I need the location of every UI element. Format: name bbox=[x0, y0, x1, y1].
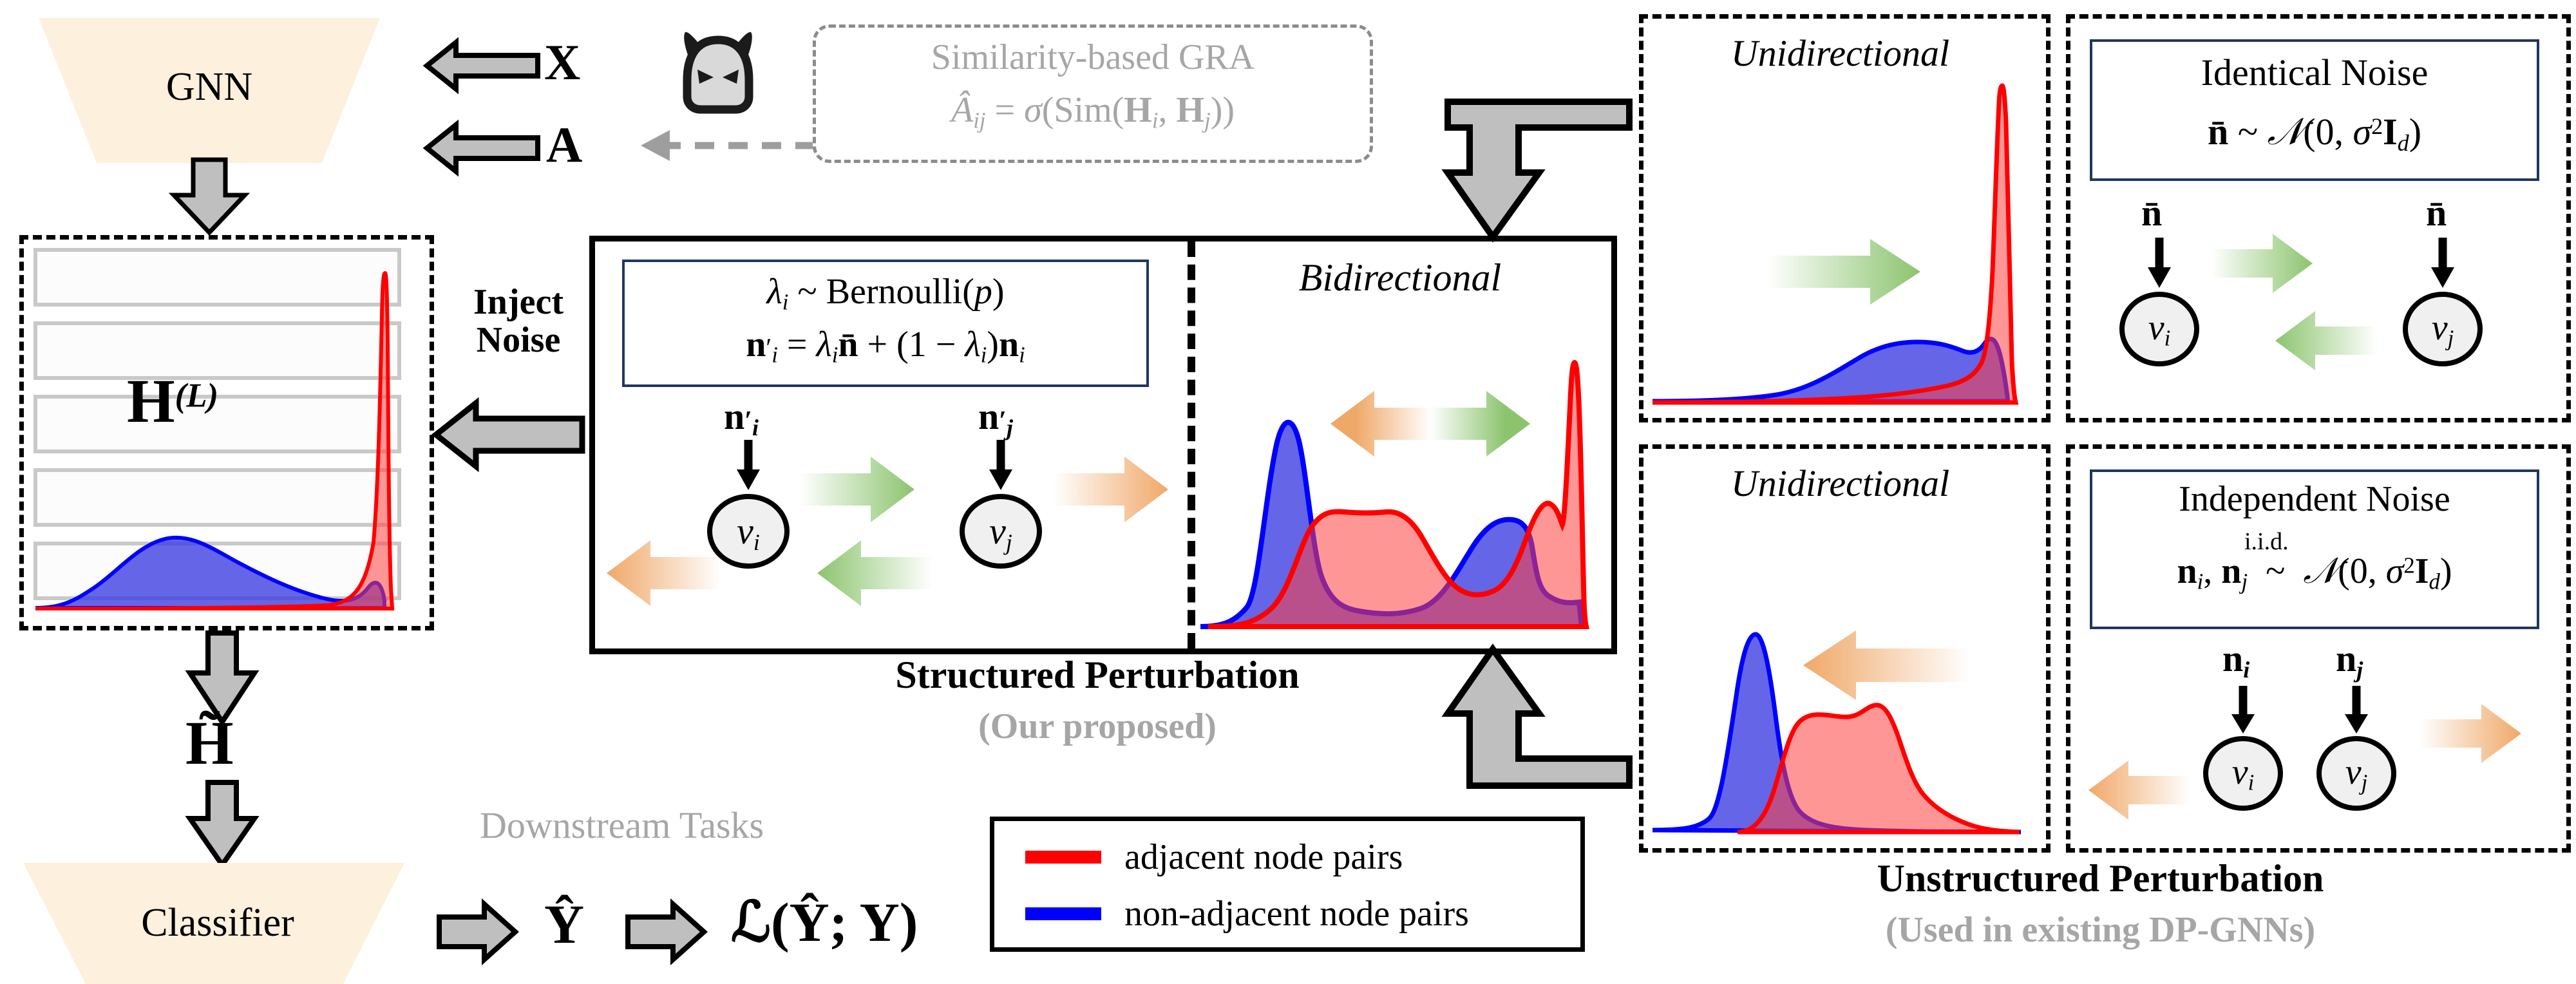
gra-title: Similarity-based GRA bbox=[816, 37, 1370, 78]
unidirectional-bottom-title: Unidirectional bbox=[1643, 462, 2037, 505]
identical-green-arrow-left bbox=[2275, 308, 2378, 373]
independent-noise-right-arrow bbox=[2344, 686, 2369, 735]
orange-arrow-right bbox=[1054, 454, 1170, 525]
independent-noise-title: Independent Noise bbox=[2092, 478, 2537, 520]
orange-arrow-left bbox=[607, 538, 723, 609]
unstructured-caption-main: Unstructured Perturbation bbox=[1639, 856, 2562, 901]
gra-box: Similarity-based GRA Âij = σ(Sim(Hi, Hj)… bbox=[813, 24, 1373, 163]
identical-noise-right-arrow bbox=[2430, 238, 2456, 289]
h-latent-density-chart bbox=[24, 240, 421, 617]
gnn-label: GNN bbox=[19, 64, 399, 110]
structured-divider bbox=[1188, 241, 1195, 648]
identical-noise-formula-box: Identical Noise n̄ ~ 𝒩(0, σ2Id) bbox=[2090, 39, 2539, 181]
node-vj-label: vj bbox=[956, 509, 1046, 556]
green-arrow-left-lower bbox=[817, 538, 933, 609]
identical-node-vj: vj bbox=[2398, 290, 2488, 368]
hidden-label: H(L) bbox=[127, 365, 218, 437]
legend-box: adjacent node pairs non-adjacent node pa… bbox=[990, 817, 1585, 952]
legend-label-non-adjacent: non-adjacent node pairs bbox=[1124, 893, 1469, 934]
bidirectional-double-arrow bbox=[1331, 388, 1530, 459]
bidirectional-density-chart bbox=[1195, 306, 1601, 633]
inject-noise-arrow bbox=[436, 399, 584, 470]
unstructured-caption-sub: (Used in existing DP-GNNs) bbox=[1639, 909, 2562, 951]
independent-node-vi-label: vi bbox=[2198, 752, 2288, 796]
identical-noise-formula: n̄ ~ 𝒩(0, σ2Id) bbox=[2092, 110, 2537, 156]
input-x-label: X bbox=[544, 33, 580, 91]
gra-to-a-dashed-arrow bbox=[602, 126, 815, 165]
classifier-to-pred-arrow bbox=[439, 902, 516, 963]
independent-orange-arrow-left bbox=[2088, 758, 2192, 822]
elbow-arrow-down bbox=[1443, 97, 1636, 258]
hidden-representation-panel: H(L) bbox=[19, 235, 434, 630]
prediction-label: Ŷ bbox=[544, 892, 584, 956]
pred-to-loss-arrow bbox=[628, 902, 705, 963]
legend-swatch-adjacent bbox=[1025, 851, 1101, 864]
legend-item: adjacent node pairs bbox=[1025, 837, 1403, 878]
identical-noise-left-label: n̄ bbox=[2141, 191, 2162, 234]
identical-node-vi-label: vi bbox=[2114, 307, 2204, 352]
identical-green-arrow-right bbox=[2211, 231, 2314, 296]
green-arrow-right-upper bbox=[800, 454, 916, 525]
gnn-block: GNN bbox=[19, 18, 399, 163]
input-a-arrow bbox=[427, 122, 540, 174]
identical-noise-title: Identical Noise bbox=[2092, 51, 2537, 94]
identical-noise-left-arrow bbox=[2146, 238, 2172, 289]
independent-noise-left-label: ni bbox=[2222, 637, 2249, 683]
identical-node-vi: vi bbox=[2114, 290, 2204, 368]
noisy-hidden-label: H̃ bbox=[185, 707, 234, 779]
green-arrow-right-top-panel bbox=[1767, 236, 1922, 307]
figure-root: GNN X A Simi bbox=[0, 0, 2576, 984]
inject-noise-label: Inject Noise bbox=[441, 283, 596, 360]
gnn-to-h-connector bbox=[158, 160, 261, 234]
independent-node-vj-label: vj bbox=[2311, 752, 2401, 796]
structured-perturbation-box: λi ~ Bernoulli(p) n′i = λin̄ + (1 − λi)n… bbox=[589, 236, 1617, 654]
noise-label-i: n′i bbox=[724, 395, 759, 441]
independent-noise-formula-box: Independent Noise i.i.d. ni, nj ~ 𝒩(0, σ… bbox=[2090, 469, 2539, 629]
independent-orange-arrow-right bbox=[2420, 701, 2523, 766]
downstream-tasks-label: Downstream Tasks bbox=[480, 804, 764, 847]
elbow-arrow-up bbox=[1443, 644, 1636, 792]
structured-formula-line2: n′i = λin̄ + (1 − λi)ni bbox=[625, 324, 1146, 368]
structured-formula-box: λi ~ Bernoulli(p) n′i = λin̄ + (1 − λi)n… bbox=[622, 260, 1149, 387]
unidirectional-top-panel: Unidirectional bbox=[1639, 14, 2050, 422]
identical-noise-right-label: n̄ bbox=[2426, 191, 2447, 234]
independent-noise-panel: Independent Noise i.i.d. ni, nj ~ 𝒩(0, σ… bbox=[2066, 444, 2571, 853]
noise-label-j: n′j bbox=[978, 395, 1013, 441]
independent-noise-left-arrow bbox=[2230, 686, 2256, 735]
htilde-to-classifier-arrow bbox=[187, 782, 258, 866]
legend-swatch-non-adjacent bbox=[1025, 907, 1101, 920]
noise-arrow-j bbox=[988, 440, 1014, 491]
bidirectional-title: Bidirectional bbox=[1200, 256, 1600, 300]
independent-noise-formula: ni, nj ~ 𝒩(0, σ2Id) bbox=[2092, 551, 2537, 595]
loss-label: ℒ(Ŷ; Y) bbox=[731, 890, 918, 954]
orange-arrow-left-bottom-panel bbox=[1803, 628, 1971, 702]
independent-noise-right-label: nj bbox=[2336, 637, 2363, 683]
series-adjacent bbox=[1738, 705, 2020, 832]
node-vj: vj bbox=[956, 493, 1046, 570]
gra-formula: Âij = σ(Sim(Hi, Hj)) bbox=[816, 90, 1370, 134]
independent-node-vi: vi bbox=[2198, 735, 2288, 812]
unidirectional-top-title: Unidirectional bbox=[1643, 32, 2037, 75]
identical-noise-panel: Identical Noise n̄ ~ 𝒩(0, σ2Id) n̄ vi n̄… bbox=[2066, 14, 2571, 422]
legend-label-adjacent: adjacent node pairs bbox=[1124, 837, 1403, 878]
classifier-label: Classifier bbox=[18, 900, 417, 946]
input-a-label: A bbox=[546, 116, 582, 174]
unidirectional-bottom-panel: Unidirectional bbox=[1639, 444, 2050, 853]
devil-icon bbox=[676, 26, 760, 116]
structured-formula-line1: λi ~ Bernoulli(p) bbox=[625, 271, 1146, 316]
independent-node-vj: vj bbox=[2311, 735, 2401, 812]
noise-arrow-i bbox=[735, 440, 761, 491]
classifier-area: Classifier bbox=[18, 863, 417, 984]
input-x-arrow bbox=[427, 40, 540, 91]
identical-node-vj-label: vj bbox=[2398, 307, 2488, 352]
legend-item: non-adjacent node pairs bbox=[1025, 893, 1469, 934]
